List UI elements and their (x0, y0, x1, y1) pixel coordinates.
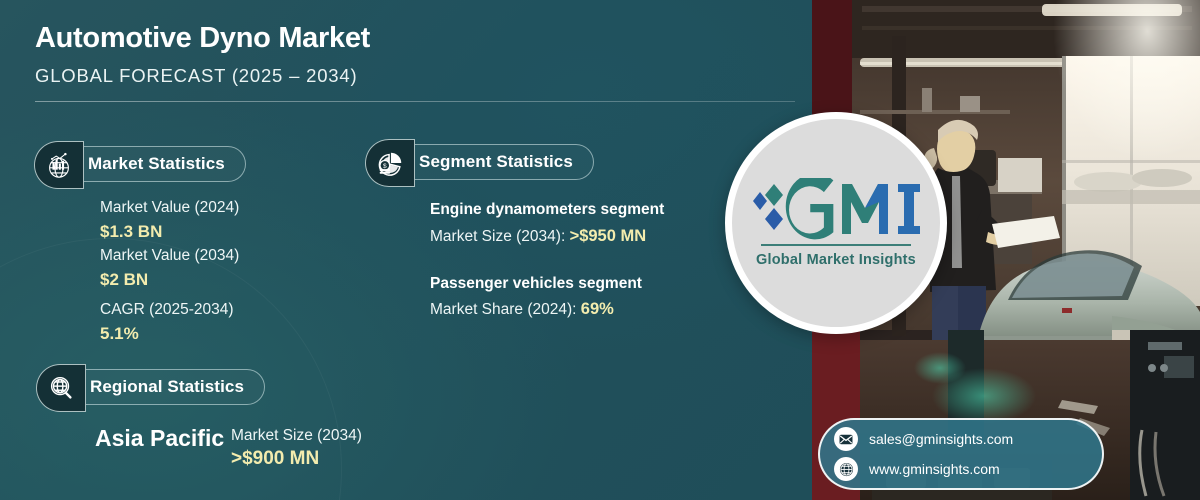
header: Automotive Dyno Market GLOBAL FORECAST (… (35, 22, 795, 87)
contact-website: www.gminsights.com (869, 461, 1000, 477)
contact-panel: sales@gminsights.com www.gminsights.com (818, 418, 1104, 490)
diamond-cluster-icon (753, 184, 783, 230)
region-metric-label: Market Size (2034) (231, 427, 362, 445)
svg-text:$: $ (383, 163, 387, 170)
gmi-logo-icon (748, 178, 924, 240)
segment-statistics-label: Segment Statistics (419, 152, 573, 172)
segment-metric: Market Share (2024): 69% (430, 296, 664, 323)
segment-metric-label: Market Size (2034): (430, 228, 565, 245)
stat-value: 5.1% (100, 321, 239, 347)
market-statistics-pill: Market Statistics (35, 146, 246, 182)
globe-magnifier-icon (36, 364, 86, 412)
segment-statistics-values: Engine dynamometers segment Market Size … (430, 198, 664, 345)
infographic-root: Automotive Dyno Market GLOBAL FORECAST (… (0, 0, 1200, 500)
segment-title: Engine dynamometers segment (430, 198, 664, 223)
segment-statistics-header: $ Segment Statistics (366, 144, 594, 180)
segment-item: Engine dynamometers segment Market Size … (430, 198, 664, 250)
stat-label: CAGR (2025-2034) (100, 299, 239, 321)
globe-bar-chart-icon (34, 141, 84, 189)
header-divider (35, 101, 795, 102)
region-metric-value: >$900 MN (231, 445, 362, 474)
market-statistics-values: Market Value (2024) $1.3 BN Market Value… (100, 197, 239, 347)
page-title: Automotive Dyno Market (35, 22, 795, 55)
contact-website-row[interactable]: www.gminsights.com (834, 457, 1088, 481)
market-statistics-label: Market Statistics (88, 154, 225, 174)
page-subtitle: GLOBAL FORECAST (2025 – 2034) (35, 65, 795, 87)
regional-statistics-header: Regional Statistics (37, 369, 265, 405)
regional-statistics-pill: Regional Statistics (37, 369, 265, 405)
segment-metric-label: Market Share (2024): (430, 301, 576, 318)
stat-value: $1.3 BN (100, 219, 239, 245)
contact-email-row[interactable]: sales@gminsights.com (834, 427, 1088, 451)
contact-email: sales@gminsights.com (869, 431, 1013, 447)
envelope-icon (834, 427, 858, 451)
gmi-logo-tagline: Global Market Insights (756, 252, 916, 268)
segment-item: Passenger vehicles segment Market Share … (430, 272, 664, 324)
pie-chart-dollar-icon: $ (365, 139, 415, 187)
region-metric: Market Size (2034) >$900 MN (231, 425, 362, 474)
segment-metric-value: 69% (581, 300, 614, 318)
globe-icon (834, 457, 858, 481)
market-statistics-header: Market Statistics (35, 146, 246, 182)
segment-title: Passenger vehicles segment (430, 272, 664, 297)
segment-metric: Market Size (2034): >$950 MN (430, 223, 664, 250)
stat-label: Market Value (2024) (100, 197, 239, 219)
logo-divider (761, 244, 911, 246)
gmi-logo-mark (748, 178, 924, 240)
stat-value: $2 BN (100, 267, 239, 293)
stat-label: Market Value (2034) (100, 245, 239, 267)
regional-statistics-values: Asia Pacific Market Size (2034) >$900 MN (95, 425, 362, 474)
gmi-logo-badge: Global Market Insights (725, 112, 947, 334)
region-name: Asia Pacific (95, 425, 225, 451)
segment-metric-value: >$950 MN (570, 227, 647, 245)
segment-statistics-pill: $ Segment Statistics (366, 144, 594, 180)
regional-statistics-label: Regional Statistics (90, 377, 244, 397)
